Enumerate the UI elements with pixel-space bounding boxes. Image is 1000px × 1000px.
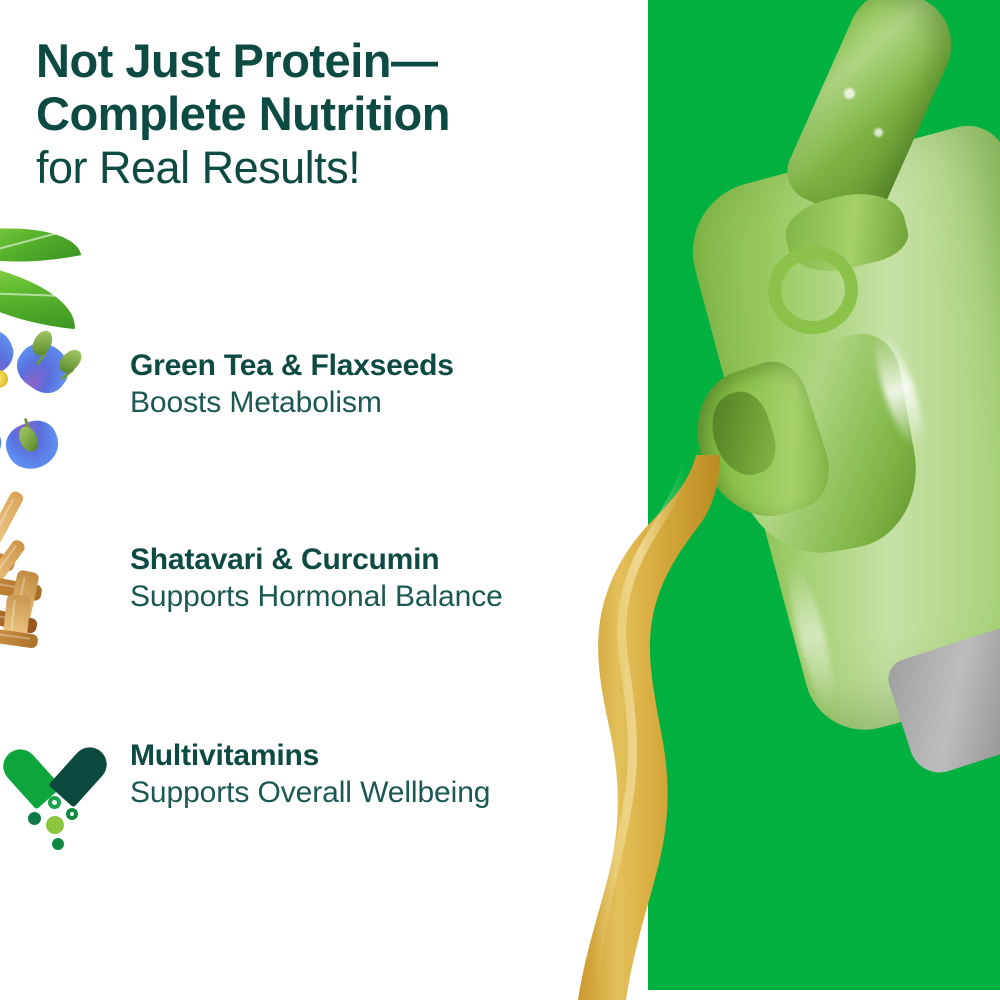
tea-leaf-lower (0, 259, 81, 329)
capsule-dot-2 (46, 816, 64, 834)
tea-leaf-upper (0, 210, 81, 280)
headline-line-2: Complete Nutrition (36, 87, 636, 140)
headline-line-1: Not Just Protein— (36, 34, 636, 87)
feature-title: Green Tea & Flaxseeds (130, 348, 650, 384)
flax-flower (0, 326, 94, 466)
capsule-dot-3 (52, 838, 64, 850)
capsule-dot-ring (48, 796, 61, 809)
green-tea-leaves-and-flax-flower-icon (0, 208, 134, 473)
capsule-dot-1 (28, 812, 41, 825)
highlight-dot-1 (844, 88, 855, 99)
page-title: Not Just Protein— Complete Nutrition for… (36, 34, 636, 196)
flower-center (0, 370, 8, 388)
feature-subtitle: Boosts Metabolism (130, 384, 650, 422)
feature-item-green-tea: Green Tea & Flaxseeds Boosts Metabolism (130, 348, 650, 422)
dried-shatavari-roots-icon (0, 500, 118, 700)
headline-line-3: for Real Results! (36, 140, 636, 196)
capsule-dot-ring-2 (66, 808, 78, 820)
promo-graphic: Not Just Protein— Complete Nutrition for… (0, 0, 1000, 1000)
open-capsule-icon (8, 742, 118, 834)
bottom-white-band (0, 990, 1000, 1000)
highlight-dot-2 (874, 128, 883, 137)
pouring-liquid-stream (520, 455, 710, 1000)
